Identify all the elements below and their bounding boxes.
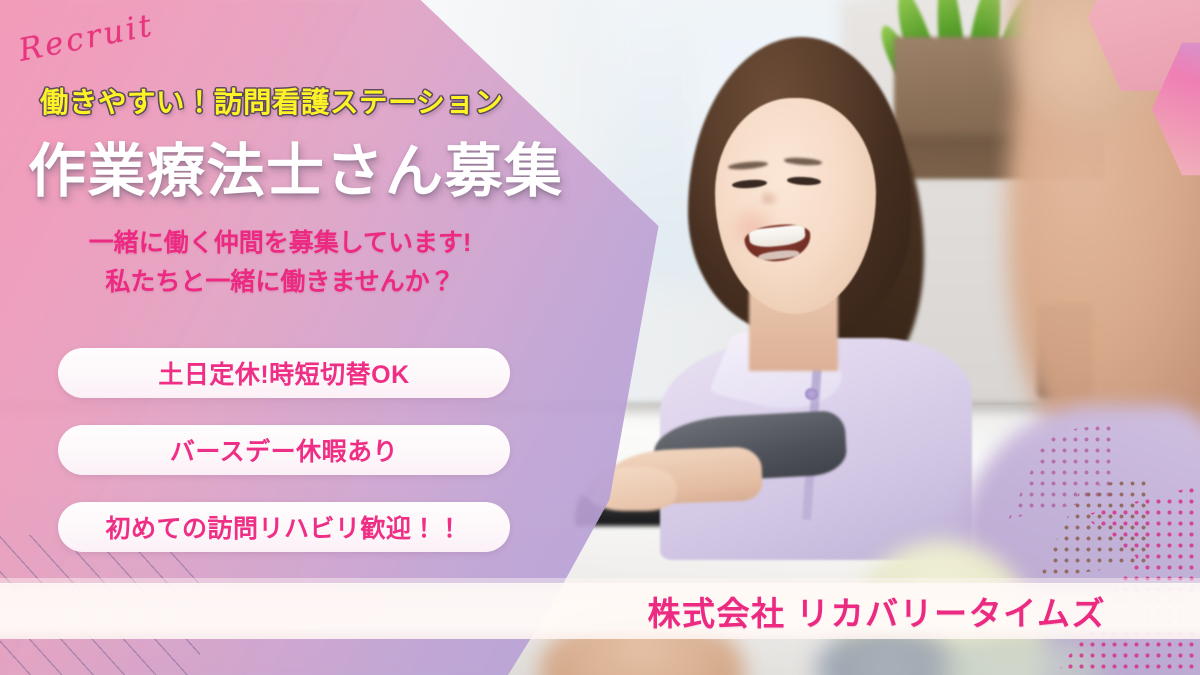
subject-nose xyxy=(761,190,779,205)
kicker-text: 働きやすい！訪問看護ステーション xyxy=(40,80,510,121)
benefits-list: 土日定休!時短切替OK バースデー休暇あり 初めての訪問リハビリ歓迎！！ xyxy=(58,348,510,579)
recruitment-banner: Recruit 働きやすい！訪問看護ステーション 作業療法士さん募集 一緒に働く… xyxy=(0,0,1200,675)
company-name: 株式会社 リカバリータイムズ xyxy=(647,587,1106,635)
lead-line-1: 一緒に働く仲間を募集しています! xyxy=(0,224,560,263)
page-title: 作業療法士さん募集 xyxy=(28,124,564,208)
company-name-bar: 株式会社 リカバリータイムズ xyxy=(0,586,1200,636)
benefit-pill-label: 土日定休!時短切替OK xyxy=(158,355,409,391)
lead-copy: 一緒に働く仲間を募集しています! 私たちと一緒に働きませんか？ xyxy=(0,224,560,302)
benefit-pill: 初めての訪問リハビリ歓迎！！ xyxy=(58,502,510,552)
benefit-pill: バースデー休暇あり xyxy=(58,425,510,475)
benefit-pill: 土日定休!時短切替OK xyxy=(58,348,510,398)
subject-teeth-upper xyxy=(748,224,806,249)
uniform-button xyxy=(805,388,818,399)
benefit-pill-label: バースデー休暇あり xyxy=(170,432,398,468)
lead-line-2: 私たちと一緒に働きませんか？ xyxy=(0,263,560,302)
benefit-pill-label: 初めての訪問リハビリ歓迎！！ xyxy=(105,509,462,545)
